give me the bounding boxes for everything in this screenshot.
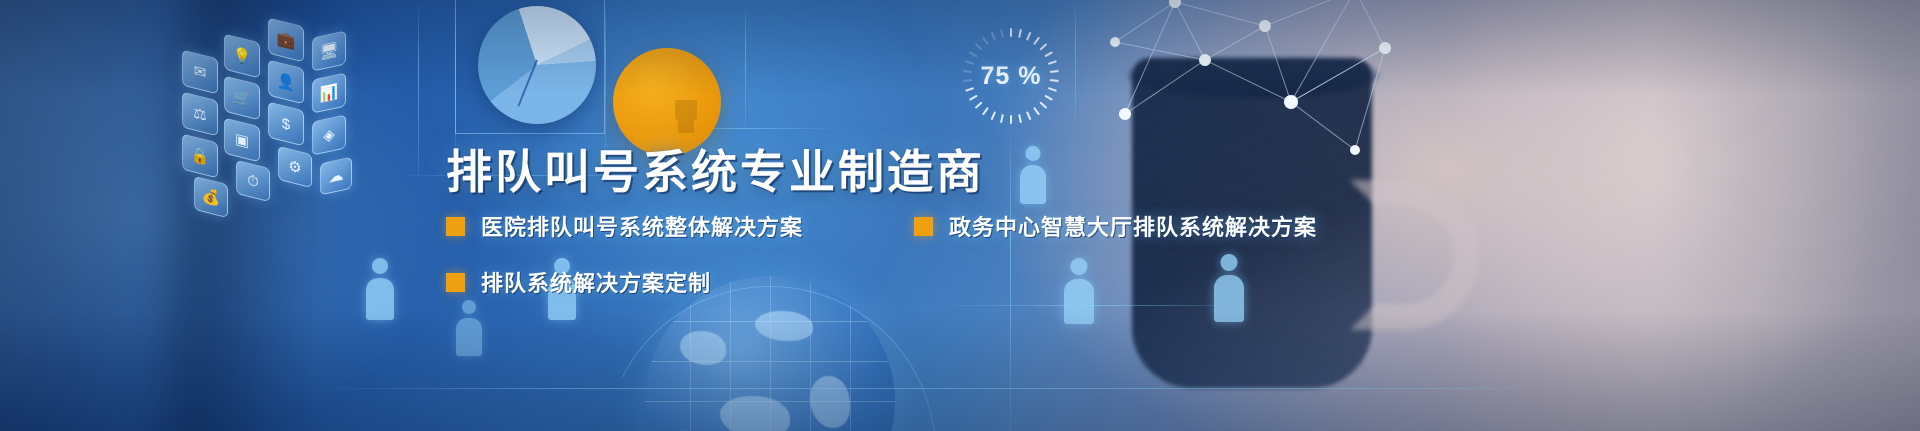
- bullet-label: 政务中心智慧大厅排队系统解决方案: [949, 210, 1317, 242]
- bullet-label: 医院排队叫号系统整体解决方案: [481, 210, 803, 242]
- bullet-square-icon: [446, 273, 465, 292]
- bullet-square-icon: [914, 217, 933, 236]
- banner-content: 排队叫号系统专业制造商 医院排队叫号系统整体解决方案 政务中心智慧大厅排队系统解…: [0, 0, 1920, 431]
- bullet-item-custom-solution[interactable]: 排队系统解决方案定制: [446, 266, 711, 298]
- bullet-item-government-hall-solution[interactable]: 政务中心智慧大厅排队系统解决方案: [914, 210, 1317, 242]
- bullet-square-icon: [446, 217, 465, 236]
- bullet-label: 排队系统解决方案定制: [481, 266, 711, 298]
- hero-banner: ✉ 💡 💼 🖥 ⚖ 🛒 👤 📊 🔒 ▣ $ ◈ 💰 ⏱ ⚙ ☁: [0, 0, 1920, 431]
- banner-headline: 排队叫号系统专业制造商: [446, 136, 985, 202]
- bullet-item-hospital-solution[interactable]: 医院排队叫号系统整体解决方案: [446, 210, 803, 242]
